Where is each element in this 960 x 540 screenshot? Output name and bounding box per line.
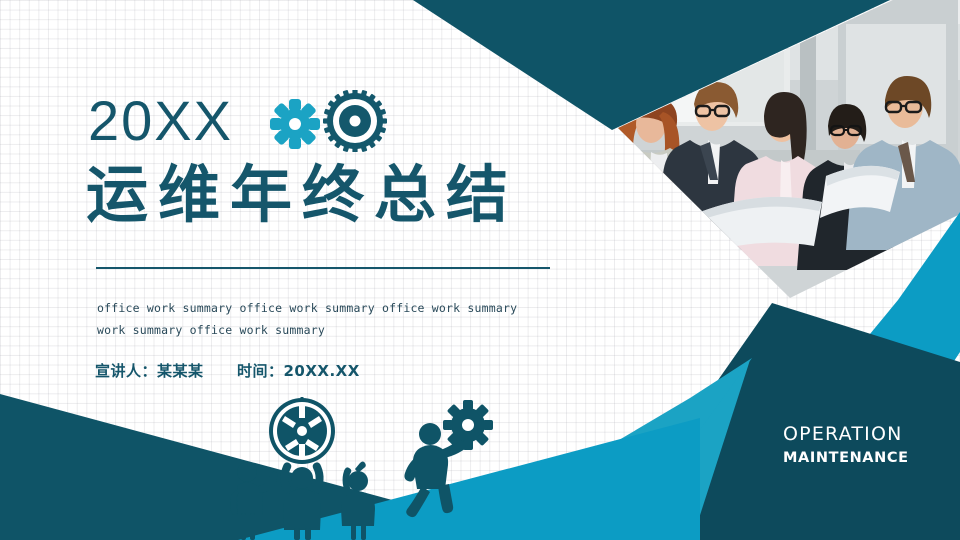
corner-caption: OPERATION MAINTENANCE — [783, 422, 909, 468]
subtitle-line-2: work summary office work summary — [97, 319, 567, 341]
presentation-date: 时间：20XX.XX — [237, 362, 360, 380]
caption-secondary: MAINTENANCE — [783, 448, 909, 468]
presenter-name: 宣讲人：某某某 — [95, 362, 204, 380]
presentation-slide: 20XX — [0, 0, 960, 540]
title-divider — [96, 267, 550, 269]
presenter-info: 宣讲人：某某某 时间：20XX.XX — [95, 360, 360, 382]
caption-primary: OPERATION — [783, 422, 909, 446]
subtitle-english: office work summary office work summary … — [97, 297, 567, 341]
small-bottom-gear — [443, 400, 493, 450]
subtitle-line-1: office work summary office work summary … — [97, 297, 567, 319]
